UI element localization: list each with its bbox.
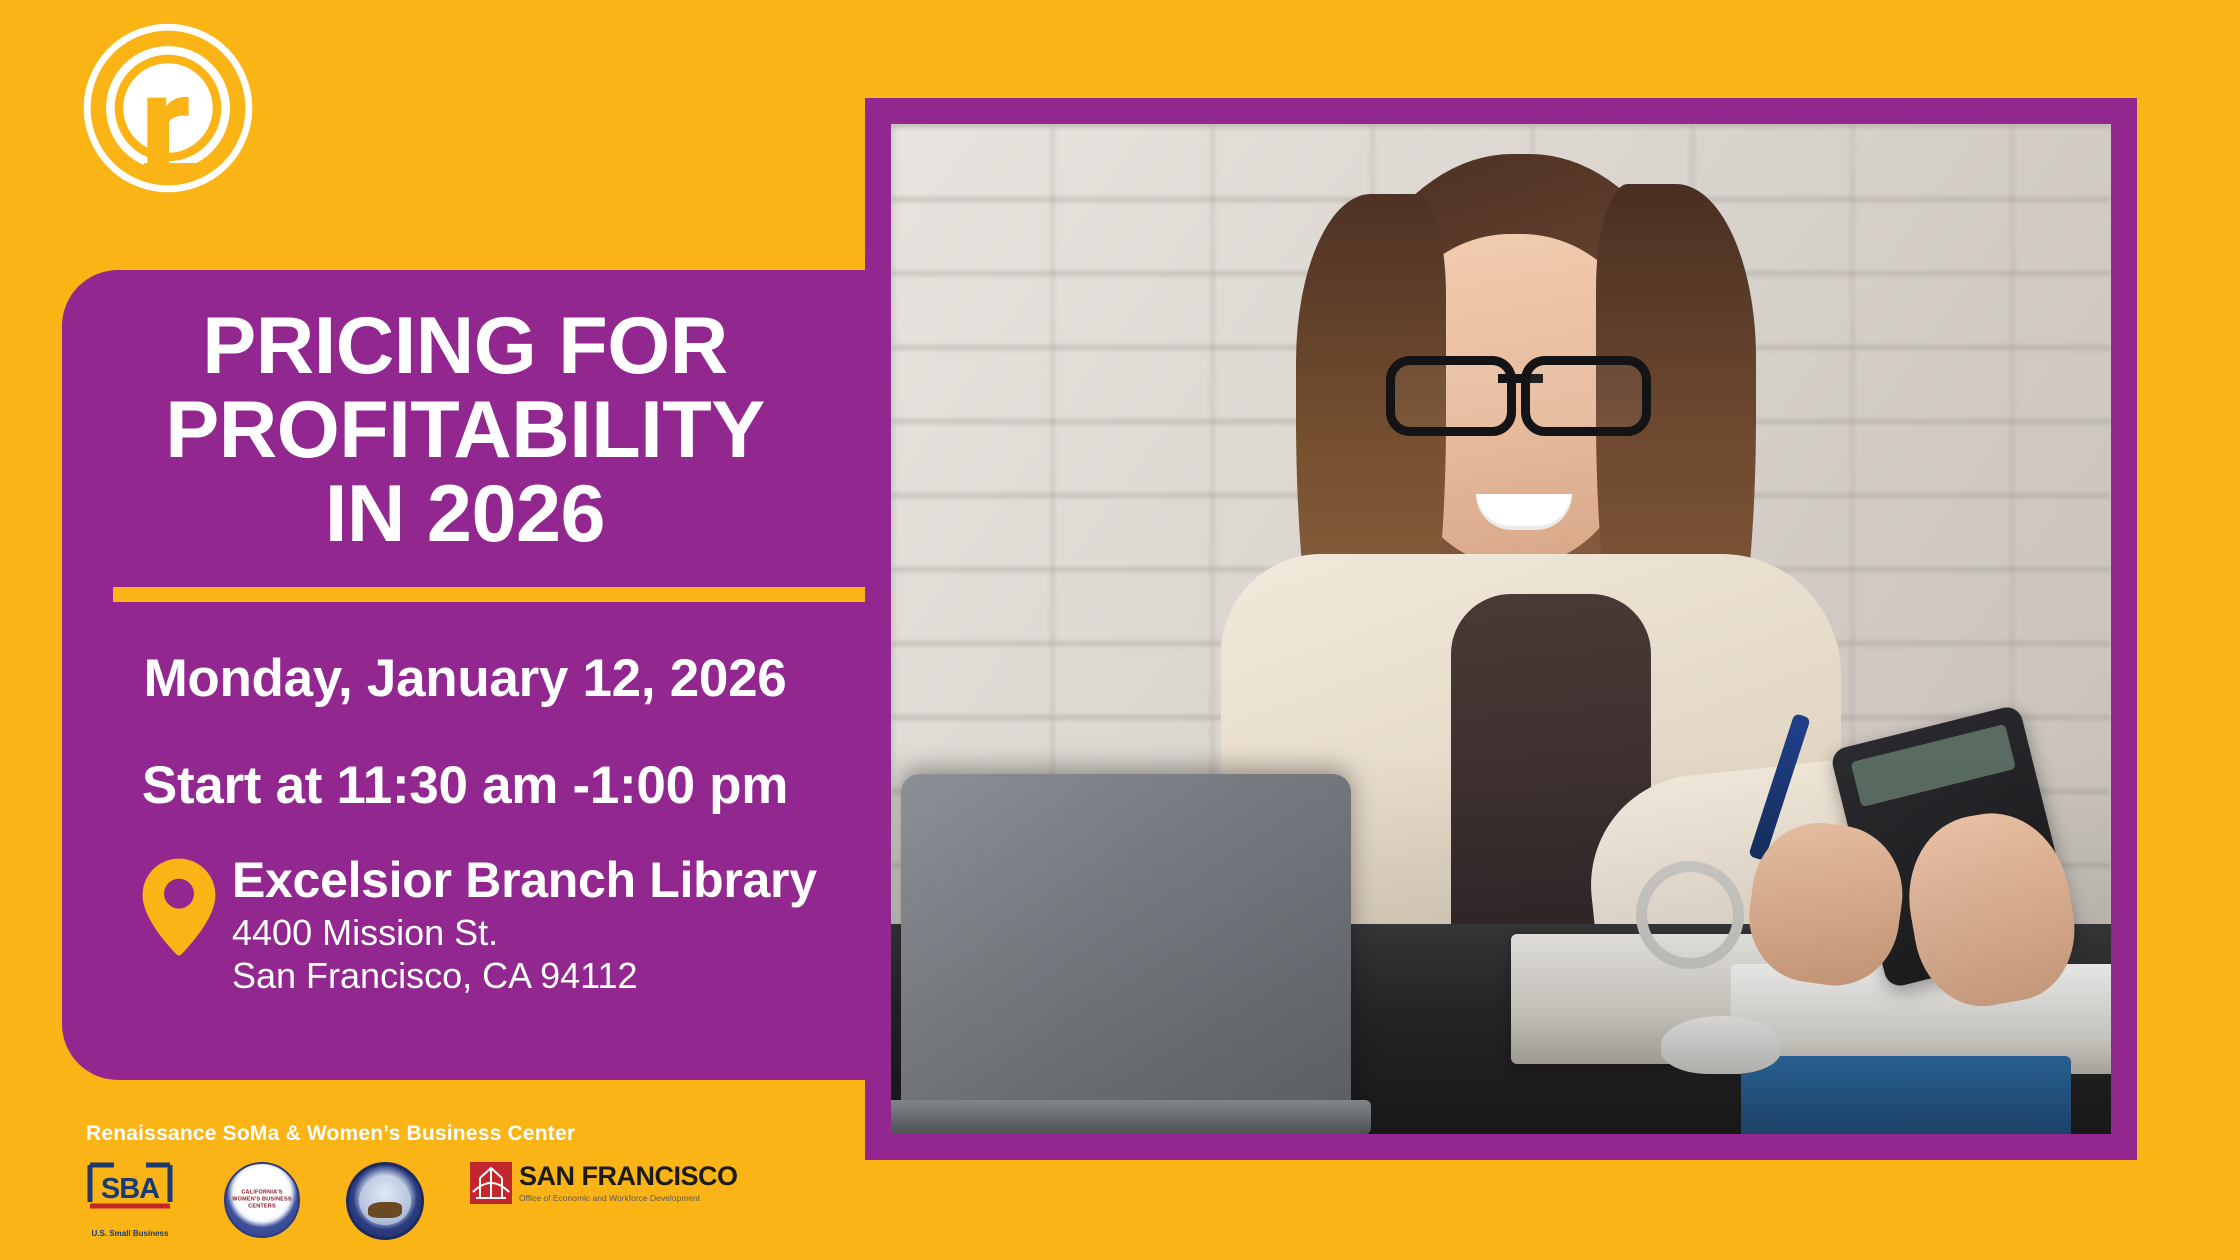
venue-text: Excelsior Branch Library 4400 Mission St… [232, 850, 817, 997]
footer: Renaissance SoMa & Women’s Business Cent… [82, 1122, 842, 1240]
san-francisco-oewd-logo: SAN FRANCISCO Office of Economic and Wor… [470, 1162, 738, 1204]
partner-logos: SBA U.S. Small Business CALIFORNIA'S WOM… [82, 1162, 842, 1240]
laptop-base [891, 1100, 1371, 1134]
venue-city: San Francisco, CA 94112 [232, 955, 638, 996]
venue-block: Excelsior Branch Library 4400 Mission St… [140, 850, 828, 997]
californias-womens-business-centers-seal: CALIFORNIA'S WOMEN'S BUSINESS CENTERS [224, 1162, 300, 1238]
sba-mark-text: SBA [84, 1173, 176, 1206]
venue-name: Excelsior Branch Library [232, 854, 817, 907]
event-time: Start at 11:30 am -1:00 pm [102, 755, 828, 816]
sba-caption: U.S. Small Business [82, 1229, 178, 1238]
flyer-canvas: PRICING FORPROFITABILITYIN 2026 Monday, … [0, 0, 2240, 1260]
venue-street: 4400 Mission St. [232, 912, 498, 953]
title-line-2: PROFITABILITY [165, 385, 764, 475]
binder-ring [1636, 861, 1744, 969]
event-date: Monday, January 12, 2026 [102, 648, 828, 709]
photo-frame [865, 98, 2137, 1160]
wbc-seal-line-3: CENTERS [226, 1203, 298, 1210]
computer-mouse [1661, 1016, 1781, 1074]
event-info-panel: PRICING FORPROFITABILITYIN 2026 Monday, … [62, 270, 868, 1080]
eyeglasses [1386, 356, 1651, 422]
wbc-seal-line-1: CALIFORNIA'S [226, 1190, 298, 1197]
map-pin-icon [140, 856, 218, 960]
laptop [901, 774, 1351, 1134]
title-divider [113, 587, 898, 602]
venue-address: 4400 Mission St.San Francisco, CA 94112 [232, 912, 817, 997]
wbc-seal-line-2: WOMEN'S BUSINESS [226, 1197, 298, 1204]
title-line-3: IN 2026 [325, 469, 605, 559]
page-title: PRICING FORPROFITABILITYIN 2026 [102, 304, 828, 557]
california-bear-icon [368, 1202, 403, 1218]
california-small-business-advocate-seal [346, 1162, 424, 1240]
title-line-1: PRICING FOR [202, 301, 728, 391]
sf-logo-subtitle: Office of Economic and Workforce Develop… [519, 1193, 738, 1203]
golden-gate-bridge-icon [470, 1162, 512, 1204]
sf-logo-title: SAN FRANCISCO [519, 1163, 738, 1190]
blue-folder [1741, 1056, 2071, 1134]
organization-name: Renaissance SoMa & Women’s Business Cent… [86, 1122, 842, 1146]
renaissance-r-circle-logo-icon [82, 22, 254, 194]
event-photo [891, 124, 2111, 1134]
sba-logo: SBA U.S. Small Business [82, 1162, 178, 1238]
